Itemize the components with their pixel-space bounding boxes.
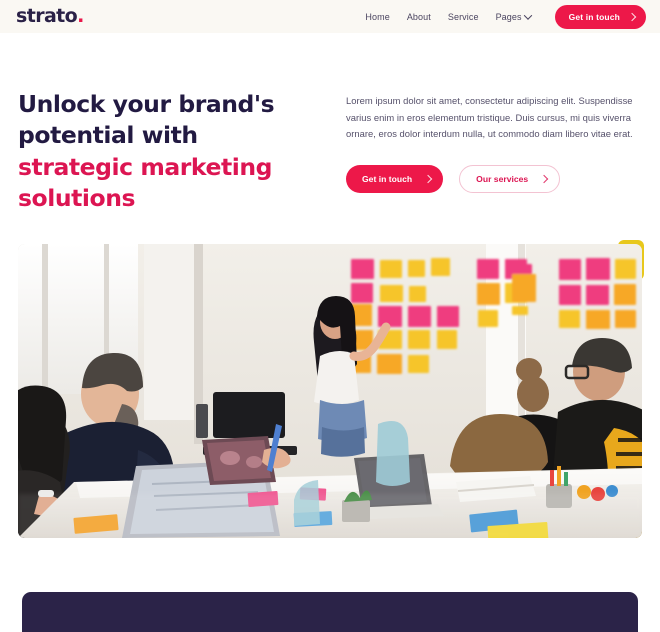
next-section-dark-panel bbox=[22, 592, 638, 632]
page-title: Unlock your brand's potential with strat… bbox=[18, 89, 300, 214]
nav-item-pages[interactable]: Pages bbox=[496, 12, 531, 22]
hero-get-in-touch-button[interactable]: Get in touch bbox=[346, 165, 443, 193]
arrow-right-icon bbox=[424, 175, 432, 183]
header-get-in-touch-button[interactable]: Get in touch bbox=[555, 5, 646, 29]
hero-copy-left: Unlock your brand's potential with strat… bbox=[18, 89, 300, 214]
hero-section: Unlock your brand's potential with strat… bbox=[0, 33, 660, 214]
brand-logo[interactable]: strato. bbox=[16, 7, 84, 26]
nav-item-service[interactable]: Service bbox=[448, 12, 479, 22]
office-team-illustration bbox=[18, 244, 642, 538]
headline-lead: Unlock your brand's potential with bbox=[18, 90, 274, 149]
arrow-right-icon bbox=[628, 12, 636, 20]
hero-our-services-button[interactable]: Our services bbox=[459, 165, 560, 193]
headline-accent: strategic marketing solutions bbox=[18, 153, 272, 212]
header-cta-label: Get in touch bbox=[569, 12, 620, 22]
nav-item-about[interactable]: About bbox=[407, 12, 431, 22]
hero-cta-row: Get in touch Our services bbox=[346, 165, 642, 193]
hero-figure bbox=[18, 244, 642, 538]
nav-item-pages-label: Pages bbox=[496, 12, 522, 22]
site-header: strato. Home About Service Pages Get in … bbox=[0, 0, 660, 33]
hero-photo bbox=[18, 244, 642, 538]
brand-logo-dot: . bbox=[77, 5, 84, 27]
arrow-right-icon bbox=[540, 175, 548, 183]
hero-secondary-cta-label: Our services bbox=[476, 174, 528, 184]
chevron-down-icon bbox=[523, 11, 531, 19]
brand-logo-text: strato bbox=[16, 5, 77, 27]
hero-copy-right: Lorem ipsum dolor sit amet, consectetur … bbox=[346, 89, 642, 214]
main-navigation: Home About Service Pages Get in touch bbox=[365, 5, 646, 29]
hero-primary-cta-label: Get in touch bbox=[362, 174, 412, 184]
hero-paragraph: Lorem ipsum dolor sit amet, consectetur … bbox=[346, 93, 642, 143]
nav-item-home[interactable]: Home bbox=[365, 12, 389, 22]
